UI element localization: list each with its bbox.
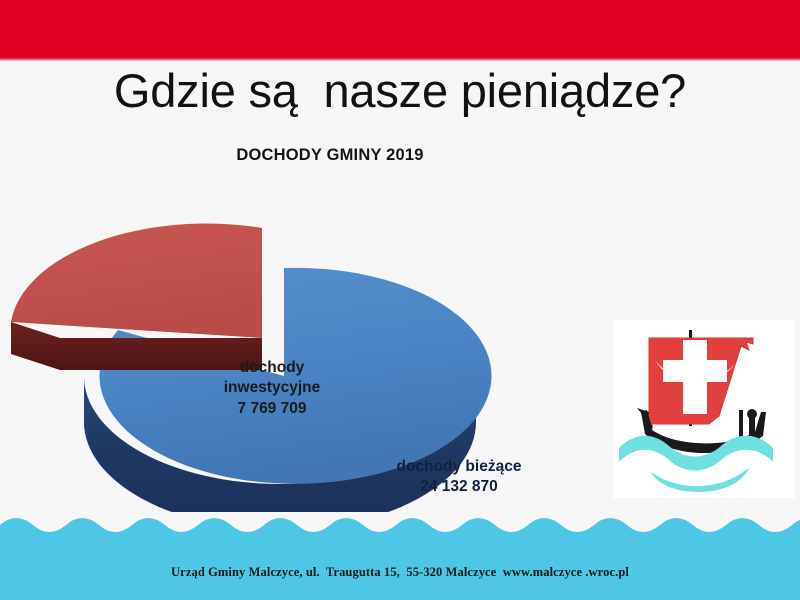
wave-band-svg <box>0 505 800 600</box>
banner-shadow <box>0 58 800 61</box>
chart-container: DOCHODY GMINY 2019 <box>0 132 620 512</box>
top-red-banner <box>0 0 800 58</box>
pie-chart <box>0 132 620 512</box>
slide-canvas: Gdzie są nasze pieniądze? DOCHODY GMINY … <box>0 0 800 600</box>
coat-of-arms-emblem <box>613 320 795 498</box>
coat-of-arms-icon <box>613 320 795 498</box>
pie-slice-red-top <box>11 224 262 338</box>
footer-wave-band: Urząd Gminy Malczyce, ul. Traugutta 15, … <box>0 505 800 600</box>
page-title: Gdzie są nasze pieniądze? <box>0 62 800 120</box>
pie-chart-svg <box>0 132 620 512</box>
footer-address: Urząd Gminy Malczyce, ul. Traugutta 15, … <box>0 565 800 580</box>
